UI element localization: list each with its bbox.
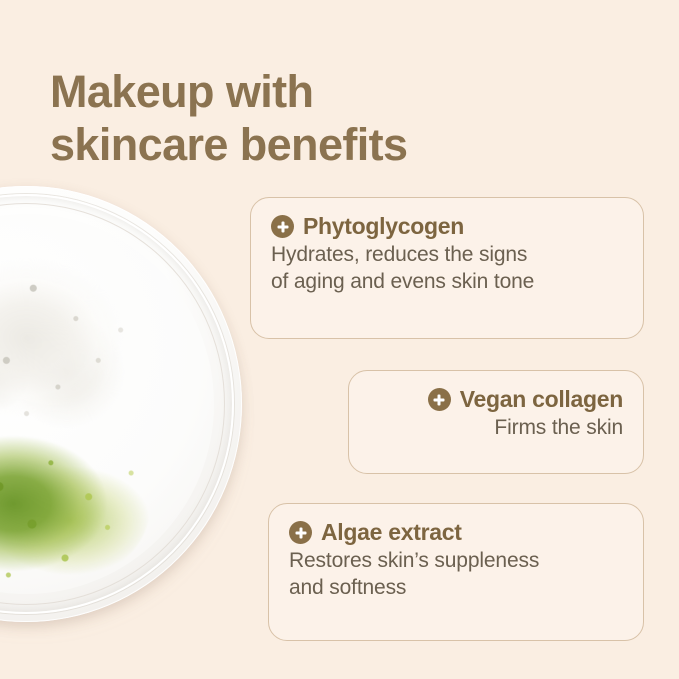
benefit-card-header: Vegan collagen bbox=[369, 387, 623, 412]
benefit-description: Restores skin’s suppleness and softness bbox=[289, 548, 623, 602]
benefit-title: Vegan collagen bbox=[460, 387, 623, 412]
dish-rim-inner bbox=[0, 203, 225, 605]
dish-rim-outer bbox=[0, 194, 234, 614]
plus-icon bbox=[428, 388, 451, 411]
product-photo bbox=[0, 186, 250, 638]
benefit-description-line-1: Firms the skin bbox=[369, 415, 623, 442]
green-powder-mound bbox=[0, 422, 150, 592]
page-title: Makeup with skincare benefits bbox=[50, 66, 610, 171]
benefit-description-line-2: of aging and evens skin tone bbox=[271, 269, 623, 296]
benefit-title: Algae extract bbox=[321, 520, 462, 545]
dish-shadow bbox=[0, 202, 248, 638]
benefit-card-vegan-collagen: Vegan collagen Firms the skin bbox=[348, 370, 644, 474]
plus-icon bbox=[289, 521, 312, 544]
green-powder-grains bbox=[0, 422, 150, 592]
benefit-description: Firms the skin bbox=[369, 415, 623, 442]
benefit-description-line-2: and softness bbox=[289, 575, 623, 602]
white-powder-mound bbox=[0, 254, 152, 444]
benefit-description: Hydrates, reduces the signs of aging and… bbox=[271, 242, 623, 296]
white-powder-grains bbox=[0, 254, 152, 444]
dish-well bbox=[0, 214, 214, 594]
plus-icon bbox=[271, 215, 294, 238]
benefit-card-header: Phytoglycogen bbox=[271, 214, 623, 239]
benefit-card-algae-extract: Algae extract Restores skin’s suppleness… bbox=[268, 503, 644, 641]
page-title-line-2: skincare benefits bbox=[50, 119, 610, 172]
benefit-description-line-1: Restores skin’s suppleness bbox=[289, 548, 623, 575]
page-title-line-1: Makeup with bbox=[50, 66, 610, 119]
benefit-card-header: Algae extract bbox=[289, 520, 623, 545]
benefit-description-line-1: Hydrates, reduces the signs bbox=[271, 242, 623, 269]
benefit-title: Phytoglycogen bbox=[303, 214, 464, 239]
benefit-card-phytoglycogen: Phytoglycogen Hydrates, reduces the sign… bbox=[250, 197, 644, 339]
ceramic-dish bbox=[0, 186, 242, 622]
promo-page: Makeup with skincare benefits Phytoglyco… bbox=[0, 0, 679, 679]
